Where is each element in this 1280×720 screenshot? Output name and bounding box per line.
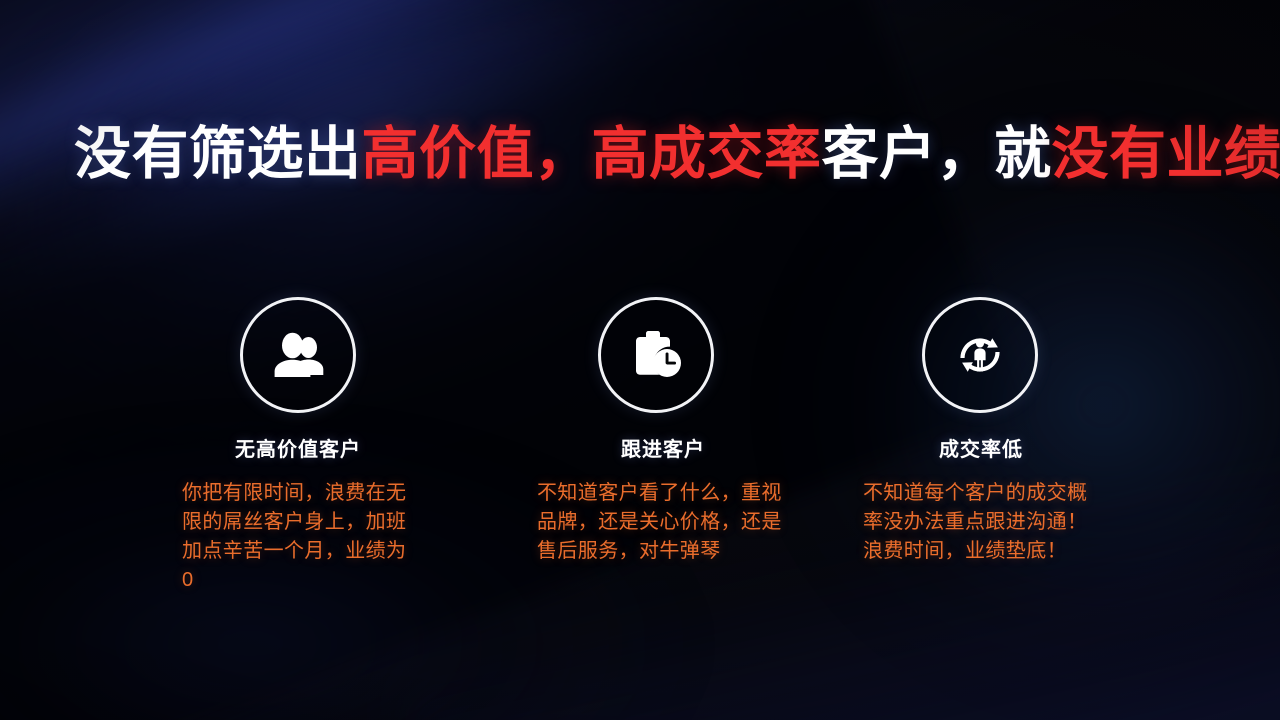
users-icon	[240, 297, 356, 413]
card-body: 你把有限时间，浪费在无限的屌丝客户身上，加班加点辛苦一个月，业绩为0	[182, 479, 414, 595]
card-title: 无高价值客户	[182, 433, 414, 462]
person-refresh-icon	[922, 297, 1038, 413]
headline-segment-1: 没有筛选出	[74, 122, 362, 186]
card-body: 不知道客户看了什么，重视品牌，还是关心价格，还是售后服务，对牛弹琴	[537, 479, 789, 566]
card-no-high-value-customers: 无高价值客户 你把有限时间，浪费在无限的屌丝客户身上，加班加点辛苦一个月，业绩为…	[168, 285, 428, 595]
headline-segment-4: 没有业绩	[1052, 122, 1280, 186]
card-title: 跟进客户	[537, 433, 789, 462]
card-title: 成交率低	[863, 433, 1099, 462]
headline-segment-3: 客户，就	[822, 122, 1052, 186]
card-follow-up-customers: 跟进客户 不知道客户看了什么，重视品牌，还是关心价格，还是售后服务，对牛弹琴	[526, 285, 786, 566]
slide-canvas: 没有筛选出高价值，高成交率客户，就没有业绩 无高价值客户 你把有限时间，浪费在无…	[0, 0, 1280, 720]
card-body: 不知道每个客户的成交概率没办法重点跟进沟通！浪费时间，业绩垫底！	[863, 479, 1099, 566]
cards-row: 无高价值客户 你把有限时间，浪费在无限的屌丝客户身上，加班加点辛苦一个月，业绩为…	[0, 285, 1280, 645]
page-title: 没有筛选出高价值，高成交率客户，就没有业绩	[74, 118, 1224, 190]
headline-segment-2: 高价值，高成交率	[362, 122, 822, 186]
card-low-conversion-rate: 成交率低 不知道每个客户的成交概率没办法重点跟进沟通！浪费时间，业绩垫底！	[850, 285, 1110, 566]
clipboard-clock-icon	[598, 297, 714, 413]
